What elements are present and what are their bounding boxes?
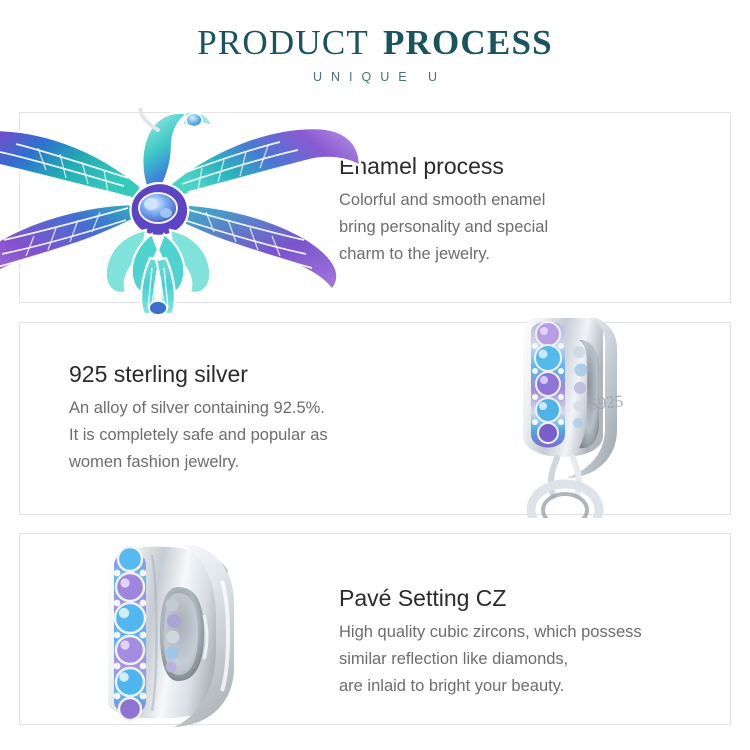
card-body: Colorful and smooth enamel bring persona… bbox=[339, 187, 548, 268]
card-heading: Enamel process bbox=[339, 151, 548, 181]
card-text-block: Pavé Setting CZ High quality cubic zirco… bbox=[339, 583, 642, 700]
product-process-page: PRODUCTPROCESS UNIQUE U Enamel process C… bbox=[0, 0, 750, 750]
card-text-block: Enamel process Colorful and smooth ename… bbox=[339, 151, 548, 268]
card-heading: 925 sterling silver bbox=[69, 359, 328, 389]
page-title: PRODUCTPROCESS bbox=[0, 22, 750, 64]
card-heading: Pavé Setting CZ bbox=[339, 583, 642, 613]
feature-card-enamel: Enamel process Colorful and smooth ename… bbox=[19, 112, 731, 303]
page-title-word-2: PROCESS bbox=[383, 23, 553, 62]
card-text-block: 925 sterling silver An alloy of silver c… bbox=[69, 359, 328, 476]
card-body: High quality cubic zircons, which posses… bbox=[339, 619, 642, 700]
page-title-word-1: PRODUCT bbox=[197, 23, 369, 62]
card-body: An alloy of silver containing 92.5%. It … bbox=[69, 395, 328, 476]
page-header: PRODUCTPROCESS UNIQUE U bbox=[0, 22, 750, 85]
feature-card-sterling-silver: 925 sterling silver An alloy of silver c… bbox=[19, 322, 731, 515]
page-subtitle: UNIQUE U bbox=[0, 69, 750, 85]
feature-card-pave-setting: Pavé Setting CZ High quality cubic zirco… bbox=[19, 533, 731, 725]
